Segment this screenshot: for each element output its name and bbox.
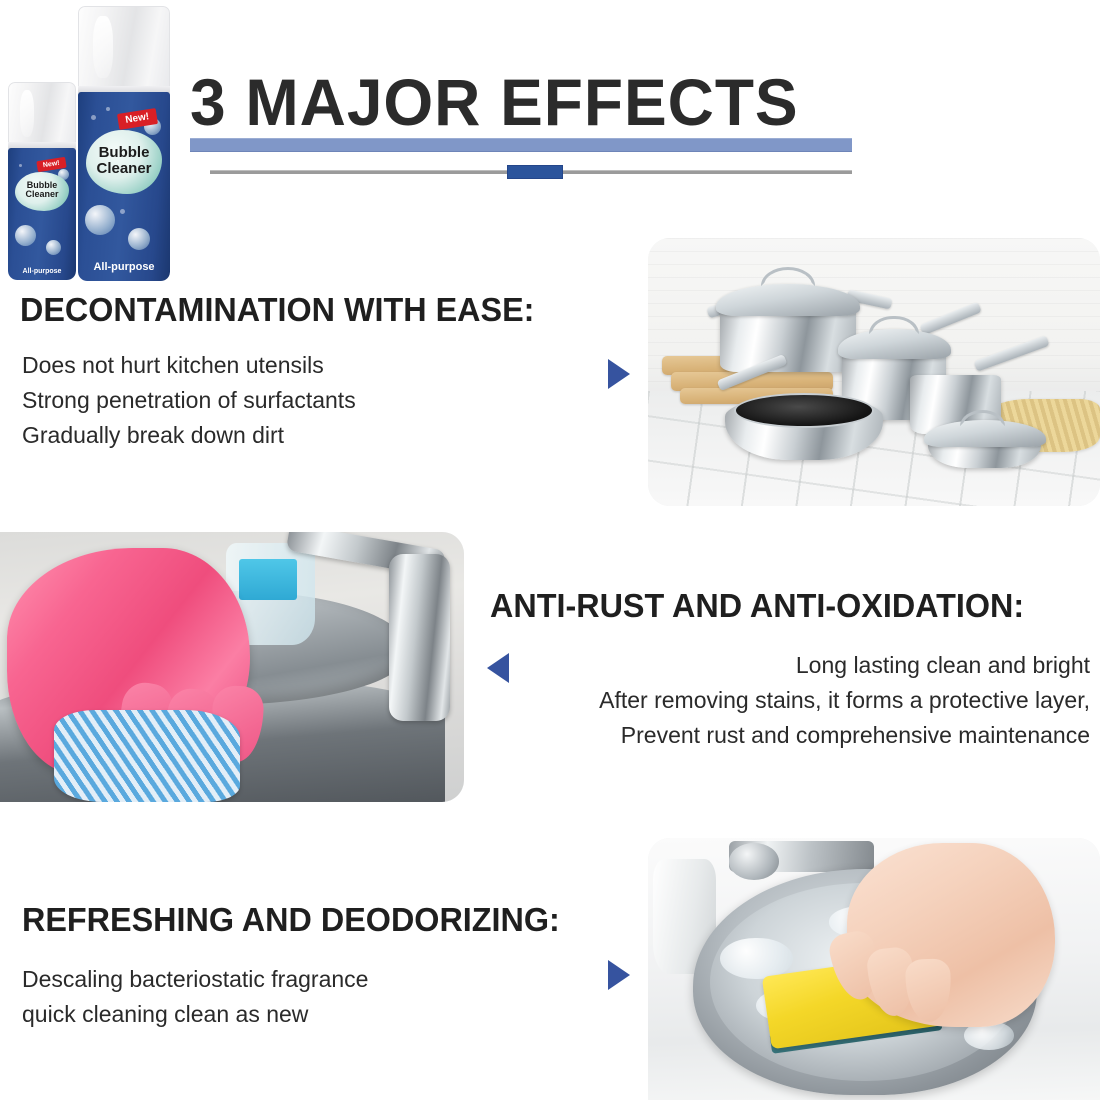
page-title: 3 MAJOR EFFECTS: [190, 68, 869, 136]
product-bottles-group: Bubble Cleaner New! All-purpose Bubble C…: [0, 0, 185, 290]
label-bubble: [85, 205, 115, 235]
mini-bubble: [19, 164, 22, 167]
pump-cap: [78, 6, 170, 94]
section-2-body: Long lasting clean and bright After remo…: [490, 648, 1090, 753]
photo-sink-cleaning: [0, 532, 464, 802]
all-purpose-text: All-purpose: [78, 261, 170, 273]
mini-bubble: [91, 115, 96, 120]
brand-line-2: Cleaner: [96, 160, 151, 177]
section-2-line-3: Prevent rust and comprehensive maintenan…: [490, 718, 1090, 753]
brand-line-2: Cleaner: [25, 189, 58, 199]
faucet-body: [389, 554, 450, 721]
section-3-line-1: Descaling bacteriostatic fragrance: [22, 962, 368, 997]
triangle-left-icon: [487, 653, 509, 683]
mini-bubble: [106, 107, 110, 111]
faucet-knob: [729, 843, 779, 880]
section-2-heading: ANTI-RUST AND ANTI-OXIDATION:: [490, 588, 1024, 624]
all-purpose-text: All-purpose: [8, 268, 76, 275]
infographic-page: Bubble Cleaner New! All-purpose Bubble C…: [0, 0, 1100, 1100]
section-1-body: Does not hurt kitchen utensils Strong pe…: [22, 348, 356, 453]
cleaning-cloth: [54, 710, 240, 802]
photo-sponge-washing: [648, 838, 1100, 1100]
title-rule-group: [210, 165, 852, 179]
brand-name: Bubble Cleaner: [8, 181, 76, 200]
title-underline-bar: [190, 138, 852, 152]
section-1-line-1: Does not hurt kitchen utensils: [22, 348, 356, 383]
title-block: 3 MAJOR EFFECTS: [190, 68, 890, 179]
brand-name: Bubble Cleaner: [78, 145, 170, 177]
section-1-line-2: Strong penetration of surfactants: [22, 383, 356, 418]
section-3-body: Descaling bacteriostatic fragrance quick…: [22, 962, 368, 1032]
section-1-line-3: Gradually break down dirt: [22, 418, 356, 453]
label-bubble: [128, 228, 150, 250]
section-2-line-2: After removing stains, it forms a protec…: [490, 683, 1090, 718]
small-bottle: Bubble Cleaner New! All-purpose: [8, 82, 76, 280]
skillet-nonstick-surface: [734, 393, 874, 428]
triangle-right-icon: [608, 960, 630, 990]
triangle-right-icon: [608, 359, 630, 389]
section-3-line-2: quick cleaning clean as new: [22, 997, 368, 1032]
label-bubble: [46, 240, 61, 255]
photo-cookware: [648, 238, 1100, 506]
large-bottle: Bubble Cleaner New! All-purpose: [78, 6, 170, 281]
bottle-label: Bubble Cleaner New! All-purpose: [78, 92, 170, 281]
section-2-line-1: Long lasting clean and bright: [490, 648, 1090, 683]
section-3-heading: REFRESHING AND DEODORIZING:: [22, 902, 560, 938]
section-1-heading: DECONTAMINATION WITH EASE:: [20, 292, 534, 328]
bottle-label: Bubble Cleaner New! All-purpose: [8, 148, 76, 280]
label-bubble: [15, 225, 36, 246]
title-rule-marker: [507, 165, 563, 179]
brand-line-1: Bubble: [99, 144, 150, 161]
mini-bubble: [120, 209, 125, 214]
pump-cap: [8, 82, 76, 150]
